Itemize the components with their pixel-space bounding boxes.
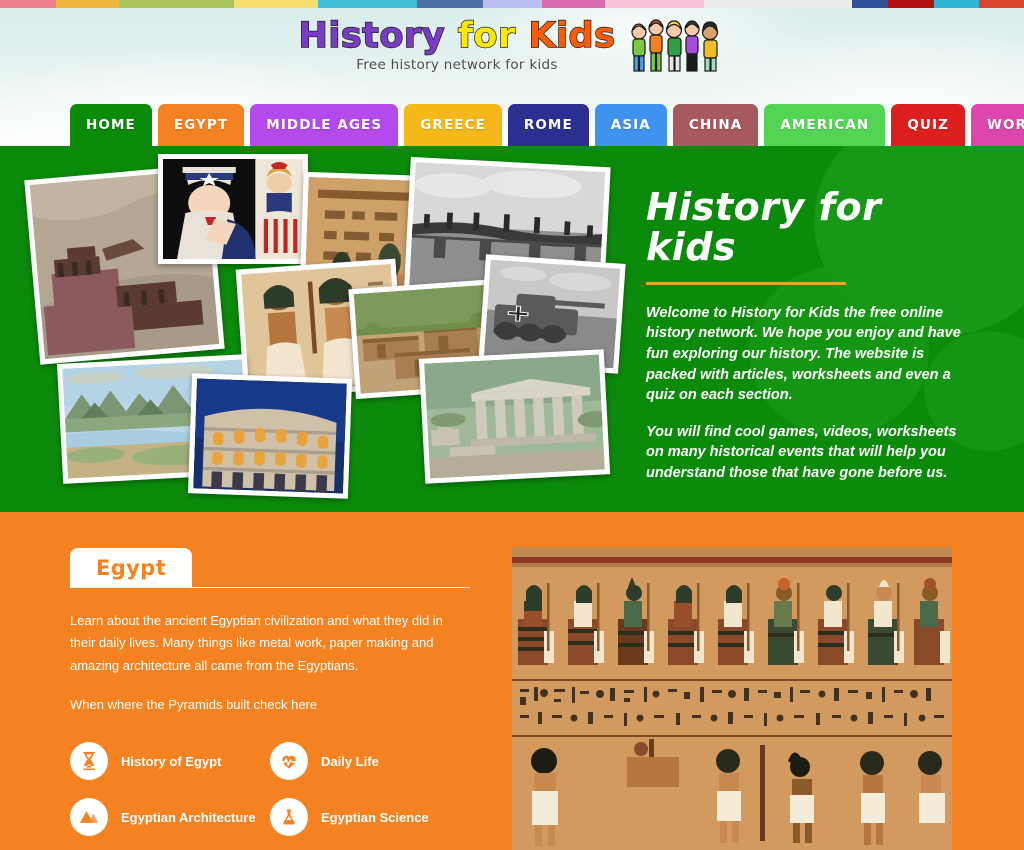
nav-item-rome[interactable]: ROME: [508, 104, 589, 146]
top-strip-segment: [542, 0, 605, 8]
uncle-sam-poster-photo: [158, 154, 308, 264]
top-strip-segment: [852, 0, 888, 8]
egypt-link-label: Egyptian Architecture: [121, 810, 256, 825]
top-strip-segment: [56, 0, 119, 8]
nav-item-label: AMERICAN: [780, 117, 869, 133]
parthenon-acropolis-photo: [419, 349, 610, 484]
main-navigation[interactable]: HOMEEGYPTMIDDLE AGESGREECEROMEASIACHINAA…: [70, 104, 1024, 146]
top-strip-segment: [888, 0, 934, 8]
egyptian-book-of-the-dead-papyrus-image: [512, 547, 952, 850]
egypt-link-egyptian-science[interactable]: Egyptian Science: [270, 798, 470, 836]
top-strip-segment: [934, 0, 978, 8]
nav-item-quiz[interactable]: QUIZ: [891, 104, 965, 146]
nav-item-egypt[interactable]: EGYPT: [158, 104, 244, 146]
flask-icon: [270, 798, 308, 836]
nav-item-label: MIDDLE AGES: [266, 117, 382, 133]
nav-item-label: QUIZ: [907, 117, 949, 133]
hero-paragraph-2: You will find cool games, videos, worksh…: [646, 422, 976, 484]
egypt-link-daily-life[interactable]: Daily Life: [270, 742, 470, 780]
nav-item-label: EGYPT: [174, 117, 228, 133]
nav-item-asia[interactable]: ASIA: [595, 104, 667, 146]
nav-item-label: GREECE: [420, 117, 486, 133]
egypt-paragraph-2: When where the Pyramids built check here: [70, 694, 470, 716]
top-strip-segment: [318, 0, 417, 8]
egypt-section-divider: [70, 587, 470, 588]
top-strip-segment: [0, 0, 56, 8]
hero-divider: [646, 282, 846, 285]
egypt-link-label: Egyptian Science: [321, 810, 429, 825]
pyramids-icon: [70, 798, 108, 836]
top-strip-segment: [979, 0, 1024, 8]
logo-word-for: for: [458, 16, 516, 56]
egypt-text-column: Egypt Learn about the ancient Egyptian c…: [70, 548, 470, 850]
logo-wordmark: History for Kids: [299, 19, 616, 54]
hero-copy: History for kids Welcome to History for …: [646, 188, 976, 499]
logo-tagline: Free history network for kids: [299, 59, 616, 73]
top-strip-segment: [704, 0, 852, 8]
nav-item-label: ROME: [524, 117, 573, 133]
hero-section: History for kids Welcome to History for …: [0, 146, 1024, 512]
top-color-strip: [0, 0, 1024, 8]
top-strip-segment: [417, 0, 483, 8]
colosseum-night-photo: [188, 373, 352, 499]
logo-text-block: History for Kids Free history network fo…: [299, 19, 616, 73]
hero-photo-collage: [22, 154, 632, 494]
nav-item-greece[interactable]: GREECE: [404, 104, 502, 146]
top-strip-segment: [234, 0, 318, 8]
egypt-link-egyptian-architecture[interactable]: Egyptian Architecture: [70, 798, 270, 836]
kids-group-illustration-icon: [625, 16, 725, 76]
top-strip-segment: [119, 0, 234, 8]
top-strip-segment: [483, 0, 542, 8]
egypt-paragraph-1: Learn about the ancient Egyptian civiliz…: [70, 610, 470, 677]
nav-item-label: CHINA: [689, 117, 742, 133]
top-strip-segment: [605, 0, 704, 8]
page-root: History for Kids Free history network fo…: [0, 0, 1024, 850]
nav-item-american[interactable]: AMERICAN: [764, 104, 885, 146]
egypt-link-history-of-egypt[interactable]: History of Egypt: [70, 742, 270, 780]
egypt-section-tab-label: Egypt: [96, 556, 166, 580]
nav-item-label: WORKSHEETS: [987, 117, 1024, 133]
logo-word-kids: Kids: [528, 16, 615, 56]
papyrus-artwork: [512, 547, 952, 850]
site-logo[interactable]: History for Kids Free history network fo…: [0, 16, 1024, 76]
heartbeat-icon: [270, 742, 308, 780]
nav-item-label: HOME: [86, 117, 136, 133]
nav-item-china[interactable]: CHINA: [673, 104, 758, 146]
hourglass-icon: [70, 742, 108, 780]
hero-paragraph-1: Welcome to History for Kids the free onl…: [646, 303, 976, 406]
nav-item-worksheets[interactable]: WORKSHEETS: [971, 104, 1024, 146]
nav-item-home[interactable]: HOME: [70, 104, 152, 146]
egypt-section-tab[interactable]: Egypt: [70, 548, 192, 587]
logo-word-history: History: [299, 16, 445, 56]
nav-item-label: ASIA: [611, 117, 651, 133]
egypt-link-grid: History of EgyptDaily LifeEgyptian Archi…: [70, 742, 470, 836]
egypt-link-label: History of Egypt: [121, 754, 221, 769]
egypt-link-label: Daily Life: [321, 754, 379, 769]
hero-title: History for kids: [646, 188, 976, 268]
nav-item-middle-ages[interactable]: MIDDLE AGES: [250, 104, 398, 146]
